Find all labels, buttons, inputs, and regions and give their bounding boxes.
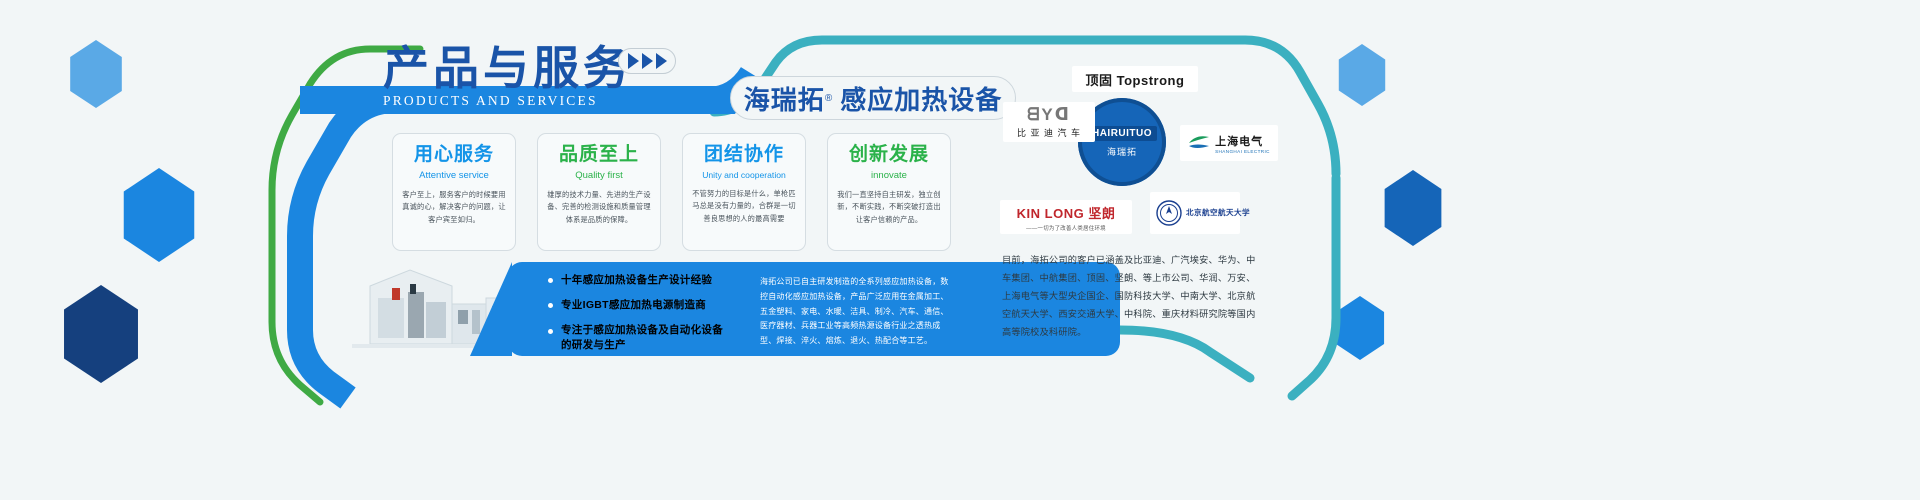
page-subtitle: PRODUCTS AND SERVICES [383, 93, 598, 109]
hairuituo-logo-text: HAIRUITUO [1087, 126, 1157, 141]
feature-bullet: 专业IGBT感应加热电源制造商 [548, 297, 726, 313]
logo-beihang-text: 北京航空航天大学 [1186, 208, 1234, 218]
value-card-1: 用心服务 Attentive service 客户至上，服务客户的时候要用真诚的… [392, 133, 516, 251]
value-card-body: 雄厚的技术力量、先进的生产设备、完善的检测设施和质量管理体系是品质的保障。 [547, 189, 651, 227]
value-card-subtitle: Unity and cooperation [692, 170, 796, 180]
logo-topstrong: 顶固 Topstrong [1072, 66, 1198, 92]
registered-mark-icon: ® [825, 93, 832, 104]
brand-name: 海瑞拓 [744, 80, 825, 117]
value-card-subtitle: Quality first [547, 170, 651, 181]
value-card-subtitle: Attentive service [402, 170, 506, 181]
value-card-body: 客户至上，服务客户的时候要用真诚的心，解决客户的问题，让客户宾至如归。 [402, 189, 506, 227]
page-title: 产品与服务 [383, 32, 633, 98]
hairuituo-logo-cn: 海瑞拓 [1107, 145, 1137, 158]
logo-topstrong-text: 顶固 Topstrong [1086, 70, 1185, 89]
product-name-pill: 海瑞拓 ® 感应加热设备 [730, 76, 1016, 120]
value-card-body: 不管努力的目标是什么，单枪匹马总是没有力量的，合群是一切善良思想的人的最高需要 [692, 188, 796, 226]
logo-byd-text: 比 亚 迪 汽 车 [1017, 126, 1081, 139]
feature-bullet: 专注于感应加热设备及自动化设备的研发与生产 [548, 323, 726, 355]
logo-shanghai-electric: 上海电气 SHANGHAI ELECTRIC [1180, 125, 1278, 161]
logo-byd: ᗺYᗡ 比 亚 迪 汽 车 [1003, 102, 1095, 142]
frame-lines [0, 0, 1920, 500]
logo-beihang: 北京航空航天大学 [1150, 192, 1240, 234]
value-card-2: 品质至上 Quality first 雄厚的技术力量、先进的生产设备、完善的检测… [537, 133, 661, 251]
value-card-title: 创新发展 [837, 144, 941, 165]
logo-kinlong-tagline: ——一切为了改善人类居住环境 [1026, 224, 1106, 232]
client-description: 目前，海拓公司的客户已涵盖及比亚迪、广汽埃安、华为、中车集团、中航集团、顶固、坚… [1002, 252, 1264, 342]
logo-kinlong: KIN LONG 坚朗 ——一切为了改善人类居住环境 [1000, 200, 1132, 234]
value-card-title: 团结协作 [692, 144, 796, 165]
value-card-4: 创新发展 innovate 我们一直坚持自主研发，独立创新，不断实践，不断突破打… [827, 133, 951, 251]
value-card-subtitle: innovate [837, 170, 941, 181]
logo-shanghai-electric-en: SHANGHAI ELECTRIC [1215, 149, 1270, 154]
value-card-title: 用心服务 [402, 144, 506, 165]
poster-canvas: 产品与服务 PRODUCTS AND SERVICES 海瑞拓 ® 感应加热设备… [0, 0, 1920, 500]
value-card-title: 品质至上 [547, 144, 651, 165]
logo-byd-mark: ᗺYᗡ [1027, 105, 1071, 125]
value-card-body: 我们一直坚持自主研发，独立创新，不断实践，不断突破打造出让客户信赖的产品。 [837, 189, 941, 227]
company-paragraph: 海拓公司已自主研发制造的全系列感应加热设备，数控自动化感应加热设备，产品广泛应用… [760, 275, 956, 349]
triple-chevron-right-icon [618, 48, 676, 74]
beihang-emblem-icon [1156, 200, 1182, 226]
shanghai-electric-mark-icon [1188, 133, 1210, 153]
logo-shanghai-electric-cn: 上海电气 [1215, 133, 1263, 149]
value-card-3: 团结协作 Unity and cooperation 不管努力的目标是什么，单枪… [682, 133, 806, 251]
feature-bullet: 十年感应加热设备生产设计经验 [548, 272, 726, 288]
product-category: 感应加热设备 [840, 80, 1002, 117]
feature-bullet-list: 十年感应加热设备生产设计经验 专业IGBT感应加热电源制造商 专注于感应加热设备… [548, 272, 726, 363]
logo-kinlong-text: KIN LONG 坚朗 [1017, 203, 1116, 222]
